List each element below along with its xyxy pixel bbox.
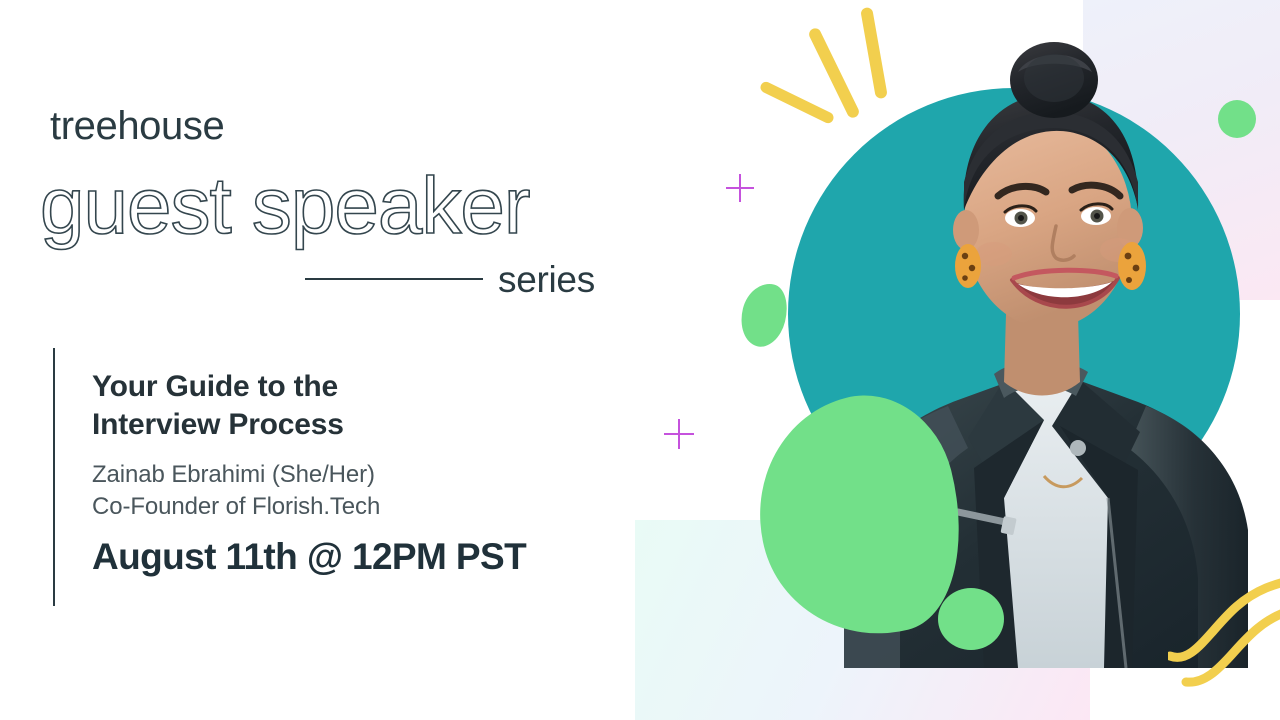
speaker-name: Zainab Ebrahimi (She/Her) xyxy=(92,459,632,491)
yellow-squiggle-icon xyxy=(1168,578,1280,688)
series-divider-rule xyxy=(305,278,483,280)
speaker-role: Co-Founder of Florish.Tech xyxy=(92,491,632,523)
brand-wordmark: treehouse xyxy=(50,106,224,146)
left-accent-rule xyxy=(53,348,55,606)
event-datetime: August 11th @ 12PM PST xyxy=(92,537,632,578)
green-circle-bottom-shape xyxy=(938,588,1004,650)
speaker-details: Zainab Ebrahimi (She/Her) Co-Founder of … xyxy=(92,459,632,523)
magenta-plus-icon xyxy=(726,174,754,202)
talk-title-line-1: Your Guide to the xyxy=(92,368,632,406)
series-label: series xyxy=(498,261,595,298)
magenta-plus-icon xyxy=(664,419,694,449)
presentation-slide: treehouse guest speaker series Your Guid… xyxy=(0,0,1280,720)
page-title: guest speaker xyxy=(40,166,530,246)
talk-title-line-2: Interview Process xyxy=(92,406,632,444)
event-info-block: Your Guide to the Interview Process Zain… xyxy=(92,368,632,577)
green-bean-shape xyxy=(735,279,793,352)
series-row: series xyxy=(305,256,625,302)
talk-title: Your Guide to the Interview Process xyxy=(92,368,632,445)
